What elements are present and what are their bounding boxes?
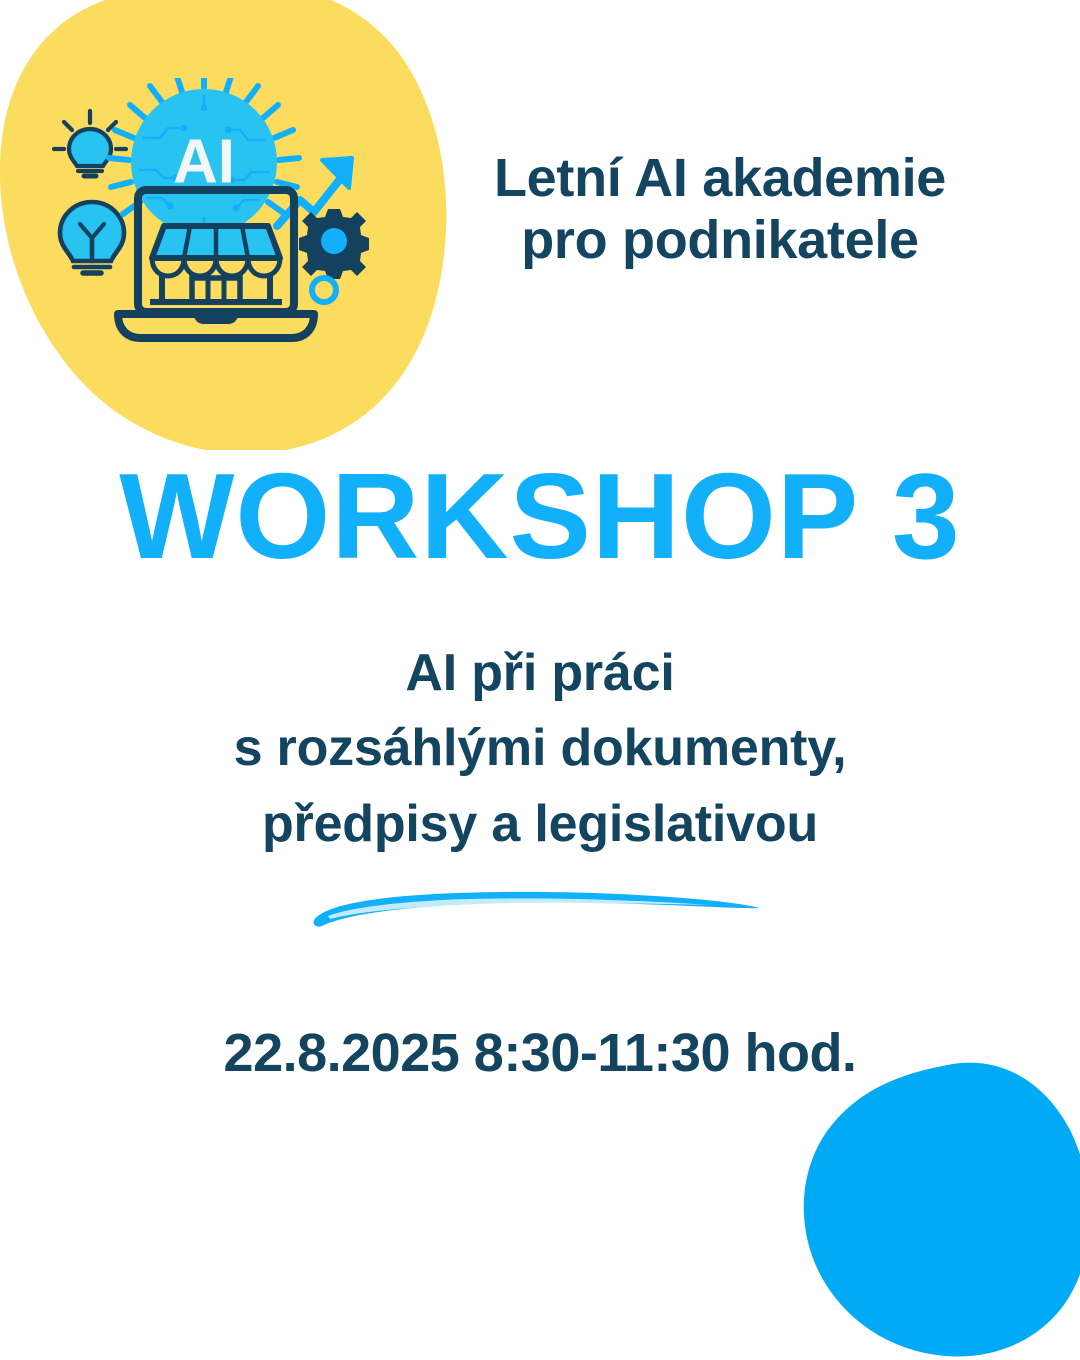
workshop-heading: WORKSHOP 3 (0, 455, 1080, 577)
workshop-subtitle-line-3: předpisy a legislativou (0, 787, 1080, 862)
program-title-line-1: Letní AI akademie (440, 148, 1000, 210)
poster-canvas: AI (0, 0, 1080, 1350)
ai-illustration: AI (52, 78, 412, 348)
ring-icon (312, 278, 336, 302)
workshop-subtitle-line-1: AI při práci (0, 636, 1080, 711)
gear-icon (299, 209, 369, 279)
brush-underline-stroke (308, 880, 768, 940)
lightbulb-large-icon (60, 202, 124, 273)
program-title: Letní AI akademie pro podnikatele (440, 148, 1000, 271)
blue-blob-shape (795, 1060, 1080, 1360)
lightbulb-small-icon (54, 111, 126, 176)
workshop-subtitle: AI při práci s rozsáhlými dokumenty, pře… (0, 636, 1080, 862)
event-datetime: 22.8.2025 8:30-11:30 hod. (0, 1022, 1080, 1084)
workshop-subtitle-line-2: s rozsáhlými dokumenty, (0, 711, 1080, 786)
storefront-icon (150, 226, 282, 302)
program-title-line-2: pro podnikatele (440, 210, 1000, 272)
